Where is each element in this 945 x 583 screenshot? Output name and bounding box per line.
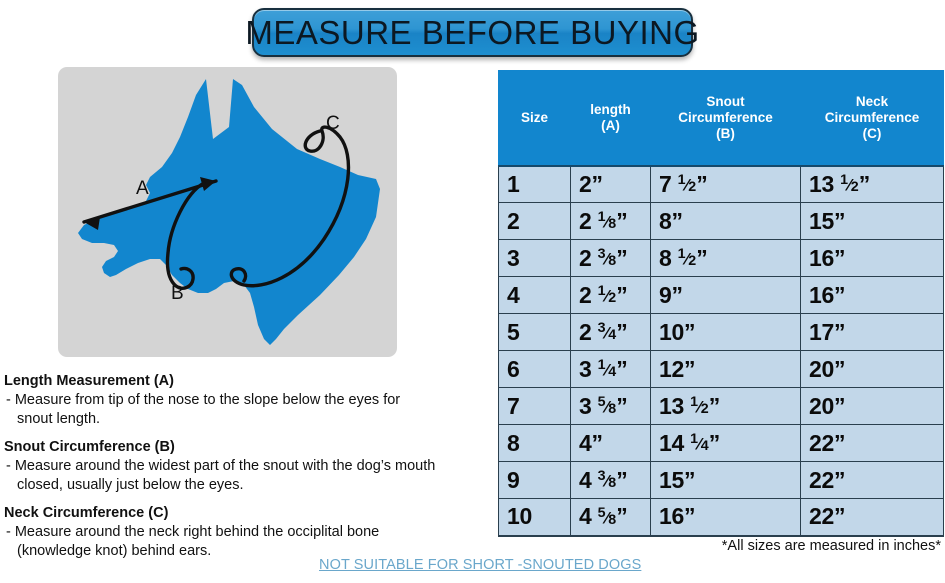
cell-size: 8 [499, 425, 571, 462]
units-note: *All sizes are measured in inches* [722, 538, 941, 554]
instruction-line-2: closed, usually just below the eyes. [6, 476, 490, 495]
cell-snout-circumference: 9” [651, 277, 801, 314]
instruction-text-snout: - Measure around the widest part of the … [4, 457, 490, 494]
cell-length: 3 1⁄4” [571, 351, 651, 388]
dog-head-silhouette-icon: A B C [58, 67, 397, 357]
cell-length: 4” [571, 425, 651, 462]
cell-length: 4 3⁄8” [571, 462, 651, 499]
header-line-3: (B) [655, 126, 796, 142]
cell-neck-circumference: 22” [801, 425, 944, 462]
label-c: C [326, 113, 340, 134]
cell-length: 2” [571, 166, 651, 203]
page-title-banner: MEASURE BEFORE BUYING [252, 8, 693, 57]
cell-size: 1 [499, 166, 571, 203]
header-line-2: Circumference [655, 110, 796, 126]
instruction-line-1: - Measure around the widest part of the … [6, 458, 435, 474]
cell-snout-circumference: 8” [651, 203, 801, 240]
column-header-snout-circumference: Snout Circumference (B) [651, 71, 801, 166]
header-line-1: Size [503, 110, 566, 126]
cell-neck-circumference: 17” [801, 314, 944, 351]
cell-neck-circumference: 22” [801, 499, 944, 536]
cell-neck-circumference: 16” [801, 240, 944, 277]
not-suitable-note: NOT SUITABLE FOR SHORT -SNOUTED DOGS [319, 557, 641, 573]
cell-length: 3 5⁄8” [571, 388, 651, 425]
cell-neck-circumference: 22” [801, 462, 944, 499]
column-header-size: Size [499, 71, 571, 166]
cell-length: 4 5⁄8” [571, 499, 651, 536]
cell-size: 2 [499, 203, 571, 240]
instruction-text-length: - Measure from tip of the nose to the sl… [4, 391, 490, 428]
cell-snout-circumference: 13 1⁄2” [651, 388, 801, 425]
cell-size: 10 [499, 499, 571, 536]
cell-length: 2 1⁄2” [571, 277, 651, 314]
measurement-instructions: Length Measurement (A) - Measure from ti… [4, 372, 490, 570]
cell-snout-circumference: 15” [651, 462, 801, 499]
cell-neck-circumference: 16” [801, 277, 944, 314]
table-row: 63 1⁄4”12”20” [499, 351, 944, 388]
header-line-1: Snout [655, 94, 796, 110]
cell-snout-circumference: 16” [651, 499, 801, 536]
instruction-heading-snout: Snout Circumference (B) [4, 438, 490, 456]
label-a: A [136, 178, 149, 199]
column-header-length: length (A) [571, 71, 651, 166]
cell-snout-circumference: 7 1⁄2” [651, 166, 801, 203]
instruction-heading-neck: Neck Circumference (C) [4, 504, 490, 522]
instruction-text-neck: - Measure around the neck right behind t… [4, 523, 490, 560]
table-row: 73 5⁄8”13 1⁄2”20” [499, 388, 944, 425]
cell-size: 3 [499, 240, 571, 277]
instruction-block-snout: Snout Circumference (B) - Measure around… [4, 438, 490, 494]
label-b: B [171, 283, 184, 304]
table-row: 32 3⁄8”8 1⁄2”16” [499, 240, 944, 277]
table-body: 12”7 1⁄2”13 1⁄2”22 1⁄8”8”15”32 3⁄8”8 1⁄2… [499, 166, 944, 536]
cell-size: 6 [499, 351, 571, 388]
cell-neck-circumference: 20” [801, 388, 944, 425]
cell-snout-circumference: 12” [651, 351, 801, 388]
header-line-2: Circumference [805, 110, 939, 126]
table-row: 22 1⁄8”8”15” [499, 203, 944, 240]
cell-length: 2 3⁄4” [571, 314, 651, 351]
cell-size: 4 [499, 277, 571, 314]
table-row: 94 3⁄8”15”22” [499, 462, 944, 499]
cell-neck-circumference: 15” [801, 203, 944, 240]
cell-neck-circumference: 13 1⁄2” [801, 166, 944, 203]
cell-snout-circumference: 10” [651, 314, 801, 351]
instruction-block-length: Length Measurement (A) - Measure from ti… [4, 372, 490, 428]
header-line-3: (C) [805, 126, 939, 142]
cell-size: 9 [499, 462, 571, 499]
header-line-1: Neck [805, 94, 939, 110]
header-line-1: length [575, 102, 646, 118]
table-row: 12”7 1⁄2”13 1⁄2” [499, 166, 944, 203]
instruction-line-2: snout length. [6, 410, 490, 429]
table-row: 104 5⁄8”16”22” [499, 499, 944, 536]
size-chart-table: Size length (A) Snout Circumference (B) … [498, 70, 944, 537]
cell-snout-circumference: 14 1⁄4” [651, 425, 801, 462]
instruction-line-1: - Measure from tip of the nose to the sl… [6, 392, 400, 408]
cell-size: 5 [499, 314, 571, 351]
table-row: 84”14 1⁄4”22” [499, 425, 944, 462]
cell-size: 7 [499, 388, 571, 425]
table-header-row: Size length (A) Snout Circumference (B) … [499, 71, 944, 166]
cell-length: 2 1⁄8” [571, 203, 651, 240]
cell-length: 2 3⁄8” [571, 240, 651, 277]
instruction-line-1: - Measure around the neck right behind t… [6, 524, 379, 540]
column-header-neck-circumference: Neck Circumference (C) [801, 71, 944, 166]
table-row: 52 3⁄4”10”17” [499, 314, 944, 351]
dog-illustration-panel: A B C [58, 67, 397, 357]
table-row: 42 1⁄2”9”16” [499, 277, 944, 314]
instruction-block-neck: Neck Circumference (C) - Measure around … [4, 504, 490, 560]
instruction-heading-length: Length Measurement (A) [4, 372, 490, 390]
header-line-2: (A) [575, 118, 646, 134]
page-title: MEASURE BEFORE BUYING [245, 14, 699, 52]
cell-neck-circumference: 20” [801, 351, 944, 388]
cell-snout-circumference: 8 1⁄2” [651, 240, 801, 277]
